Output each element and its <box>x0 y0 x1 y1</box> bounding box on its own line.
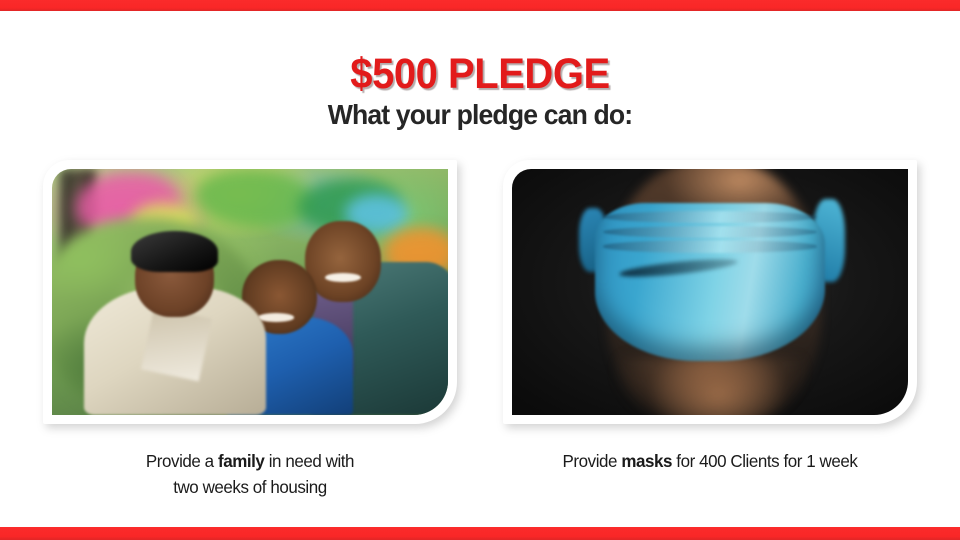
mask-pleat-shape <box>603 240 817 252</box>
caption-masks: Provide masks for 400 Clients for 1 week <box>509 448 911 474</box>
caption-text-line2: two weeks of housing <box>173 477 327 497</box>
caption-text-bold: masks <box>621 451 672 471</box>
photo-family <box>52 169 448 415</box>
title-block: $500 PLEDGE What your pledge can do: <box>0 52 960 130</box>
page-subtitle: What your pledge can do: <box>24 100 936 130</box>
mask-pleat-shape <box>603 211 817 223</box>
panel-row: Provide a family in need with two weeks … <box>0 160 960 500</box>
neck-shape <box>615 356 805 415</box>
photo-frame-masks <box>503 160 917 424</box>
caption-text-after: for 400 Clients for 1 week <box>672 451 857 471</box>
page-title: $500 PLEDGE <box>34 52 927 96</box>
caption-housing: Provide a family in need with two weeks … <box>49 448 451 500</box>
mask-pleat-shape <box>603 226 817 238</box>
panel-housing: Provide a family in need with two weeks … <box>43 160 457 500</box>
caption-text-before: Provide a <box>146 451 218 471</box>
photo-frame-housing <box>43 160 457 424</box>
girl-face-shape <box>305 221 380 302</box>
bottom-accent-bar <box>0 527 960 540</box>
top-accent-bar <box>0 0 960 11</box>
mother-beret-shape <box>131 231 218 273</box>
caption-text-after: in need with <box>264 451 354 471</box>
caption-text-before: Provide <box>563 451 622 471</box>
boy-smile-shape <box>258 313 294 321</box>
photo-masked-person <box>512 169 908 415</box>
pledge-slide: $500 PLEDGE What your pledge can do: <box>0 0 960 540</box>
panel-masks: Provide masks for 400 Clients for 1 week <box>503 160 917 500</box>
caption-text-bold: family <box>218 451 264 471</box>
mural-blob-green <box>195 169 314 228</box>
